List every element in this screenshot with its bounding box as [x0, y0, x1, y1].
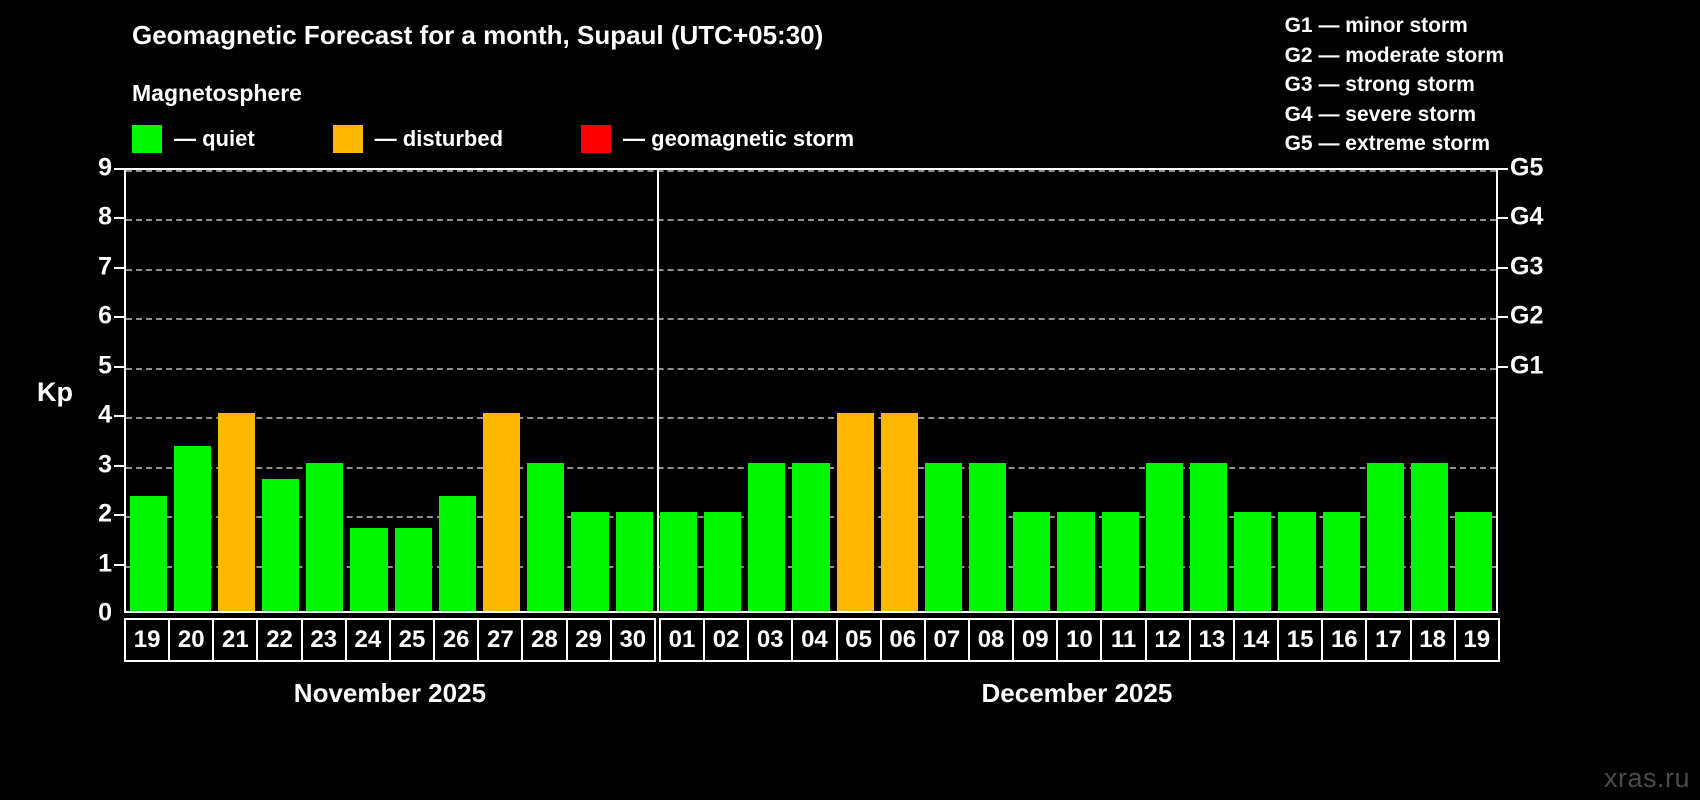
legend: — quiet— disturbed— geomagnetic storm	[132, 124, 854, 154]
bar[interactable]	[174, 446, 211, 611]
bar[interactable]	[1278, 512, 1315, 611]
day-label-05: 05	[836, 618, 882, 662]
g-axis-label-G1: G1	[1510, 351, 1543, 380]
g-axis-label-G4: G4	[1510, 203, 1543, 232]
month-label: November 2025	[294, 678, 486, 709]
bar[interactable]	[1190, 463, 1227, 611]
g-axis-tick-G3	[1498, 267, 1508, 269]
month-divider	[657, 170, 659, 611]
g-scale-line-3: G3 — strong storm	[1285, 70, 1504, 100]
bar-slot-03	[745, 170, 789, 611]
y-tick-label-7: 7	[72, 252, 112, 281]
y-tick-mark-5	[114, 366, 124, 368]
y-tick-label-8: 8	[72, 203, 112, 232]
day-label-02: 02	[703, 618, 749, 662]
day-label-25: 25	[389, 618, 435, 662]
y-tick-mark-7	[114, 267, 124, 269]
bar-slot-15	[1275, 170, 1319, 611]
bar[interactable]	[262, 479, 299, 611]
legend-label-quiet: — quiet	[174, 126, 255, 152]
g-scale-legend: G1 — minor stormG2 — moderate stormG3 — …	[1285, 11, 1504, 159]
bar-slot-08	[966, 170, 1010, 611]
day-label-06: 06	[880, 618, 926, 662]
bar-slot-21	[214, 170, 258, 611]
bar-slot-24	[347, 170, 391, 611]
bar-slot-19	[126, 170, 170, 611]
legend-heading: Magnetosphere	[132, 80, 302, 107]
bar-slot-01	[656, 170, 700, 611]
bar-slot-16	[1319, 170, 1363, 611]
bar[interactable]	[704, 512, 741, 611]
page-title: Geomagnetic Forecast for a month, Supaul…	[132, 20, 823, 51]
bar-slot-28	[524, 170, 568, 611]
day-label-15: 15	[1277, 618, 1323, 662]
bar-slot-20	[170, 170, 214, 611]
bar-slot-27	[480, 170, 524, 611]
bar-slot-23	[303, 170, 347, 611]
bar[interactable]	[306, 463, 343, 611]
bar[interactable]	[483, 413, 520, 611]
y-tick-mark-4	[114, 415, 124, 417]
watermark: xras.ru	[1604, 763, 1690, 794]
bar-slot-26	[435, 170, 479, 611]
day-label-29: 29	[566, 618, 612, 662]
y-tick-label-5: 5	[72, 351, 112, 380]
day-label-30: 30	[610, 618, 656, 662]
day-label-13: 13	[1189, 618, 1235, 662]
day-label-09: 09	[1012, 618, 1058, 662]
day-label-11: 11	[1100, 618, 1146, 662]
bar[interactable]	[1013, 512, 1050, 611]
day-label-20: 20	[168, 618, 214, 662]
legend-label-disturbed: — disturbed	[375, 126, 503, 152]
bar[interactable]	[1411, 463, 1448, 611]
y-tick-label-4: 4	[72, 401, 112, 430]
g-scale-line-1: G1 — minor storm	[1285, 11, 1504, 41]
bar-slot-22	[259, 170, 303, 611]
day-label-10: 10	[1056, 618, 1102, 662]
day-label-26: 26	[433, 618, 479, 662]
g-scale-line-4: G4 — severe storm	[1285, 100, 1504, 130]
bar[interactable]	[130, 496, 167, 611]
bar-slot-06	[877, 170, 921, 611]
y-tick-mark-3	[114, 465, 124, 467]
bar[interactable]	[395, 528, 432, 611]
day-label-21: 21	[212, 618, 258, 662]
g-axis-tick-G4	[1498, 217, 1508, 219]
bar[interactable]	[218, 413, 255, 611]
bar[interactable]	[748, 463, 785, 611]
legend-item-disturbed: — disturbed	[333, 125, 503, 153]
y-tick-label-1: 1	[72, 549, 112, 578]
bar[interactable]	[350, 528, 387, 611]
bar[interactable]	[660, 512, 697, 611]
bar[interactable]	[837, 413, 874, 611]
g-axis-tick-G1	[1498, 366, 1508, 368]
bar[interactable]	[527, 463, 564, 611]
bar-slot-09	[1010, 170, 1054, 611]
bars-layer	[126, 170, 1496, 611]
day-label-08: 08	[968, 618, 1014, 662]
g-axis-tick-G2	[1498, 316, 1508, 318]
day-label-28: 28	[521, 618, 567, 662]
plot-area	[124, 168, 1498, 613]
g-axis-tick-G5	[1498, 168, 1508, 170]
g-axis-label-G2: G2	[1510, 302, 1543, 331]
y-tick-label-3: 3	[72, 450, 112, 479]
legend-swatch-geomagnetic-storm	[581, 125, 611, 153]
day-label-24: 24	[345, 618, 391, 662]
bar[interactable]	[881, 413, 918, 611]
bar[interactable]	[1455, 512, 1492, 611]
day-label-27: 27	[477, 618, 523, 662]
day-label-01: 01	[659, 618, 705, 662]
legend-item-geomagnetic-storm: — geomagnetic storm	[581, 125, 854, 153]
g-scale-line-5: G5 — extreme storm	[1285, 129, 1504, 159]
bar-slot-25	[391, 170, 435, 611]
y-tick-mark-9	[114, 168, 124, 170]
day-label-17: 17	[1365, 618, 1411, 662]
bar-slot-14	[1231, 170, 1275, 611]
y-tick-label-0: 0	[72, 599, 112, 628]
day-label-16: 16	[1321, 618, 1367, 662]
bar[interactable]	[969, 463, 1006, 611]
bar[interactable]	[1234, 512, 1271, 611]
bar[interactable]	[1367, 463, 1404, 611]
g-axis-label-G5: G5	[1510, 154, 1543, 183]
day-label-07: 07	[924, 618, 970, 662]
bar-slot-12	[1142, 170, 1186, 611]
bar[interactable]	[616, 512, 653, 611]
bar-slot-13	[1187, 170, 1231, 611]
bar-slot-11	[1098, 170, 1142, 611]
y-tick-mark-1	[114, 564, 124, 566]
y-tick-label-9: 9	[72, 154, 112, 183]
bar[interactable]	[571, 512, 608, 611]
bar-slot-17	[1363, 170, 1407, 611]
day-label-04: 04	[791, 618, 837, 662]
g-scale-line-2: G2 — moderate storm	[1285, 41, 1504, 71]
day-label-22: 22	[256, 618, 302, 662]
bar[interactable]	[1146, 463, 1183, 611]
y-tick-label-2: 2	[72, 500, 112, 529]
bar[interactable]	[1102, 512, 1139, 611]
bar-slot-19	[1452, 170, 1496, 611]
day-label-03: 03	[747, 618, 793, 662]
bar-slot-04	[789, 170, 833, 611]
legend-swatch-disturbed	[333, 125, 363, 153]
bar[interactable]	[1057, 512, 1094, 611]
y-tick-mark-2	[114, 514, 124, 516]
month-label: December 2025	[982, 678, 1173, 709]
bar[interactable]	[792, 463, 829, 611]
day-label-19: 19	[124, 618, 170, 662]
y-axis-title: Kp	[37, 377, 73, 408]
bar-slot-29	[568, 170, 612, 611]
day-label-23: 23	[301, 618, 347, 662]
bar-slot-02	[700, 170, 744, 611]
day-label-19: 19	[1454, 618, 1500, 662]
bar[interactable]	[1323, 512, 1360, 611]
day-axis: 1920212223242526272829300102030405060708…	[124, 618, 1498, 662]
y-tick-mark-8	[114, 217, 124, 219]
bar-slot-07	[921, 170, 965, 611]
bar[interactable]	[925, 463, 962, 611]
legend-label-geomagnetic-storm: — geomagnetic storm	[623, 126, 854, 152]
legend-swatch-quiet	[132, 125, 162, 153]
bar-slot-05	[833, 170, 877, 611]
day-label-12: 12	[1145, 618, 1191, 662]
bar-slot-18	[1407, 170, 1451, 611]
bar-slot-10	[1054, 170, 1098, 611]
day-label-18: 18	[1410, 618, 1456, 662]
bar[interactable]	[439, 496, 476, 611]
day-label-14: 14	[1233, 618, 1279, 662]
y-tick-mark-6	[114, 316, 124, 318]
bar-slot-30	[612, 170, 656, 611]
legend-item-quiet: — quiet	[132, 125, 255, 153]
g-axis-label-G3: G3	[1510, 252, 1543, 281]
y-tick-label-6: 6	[72, 302, 112, 331]
